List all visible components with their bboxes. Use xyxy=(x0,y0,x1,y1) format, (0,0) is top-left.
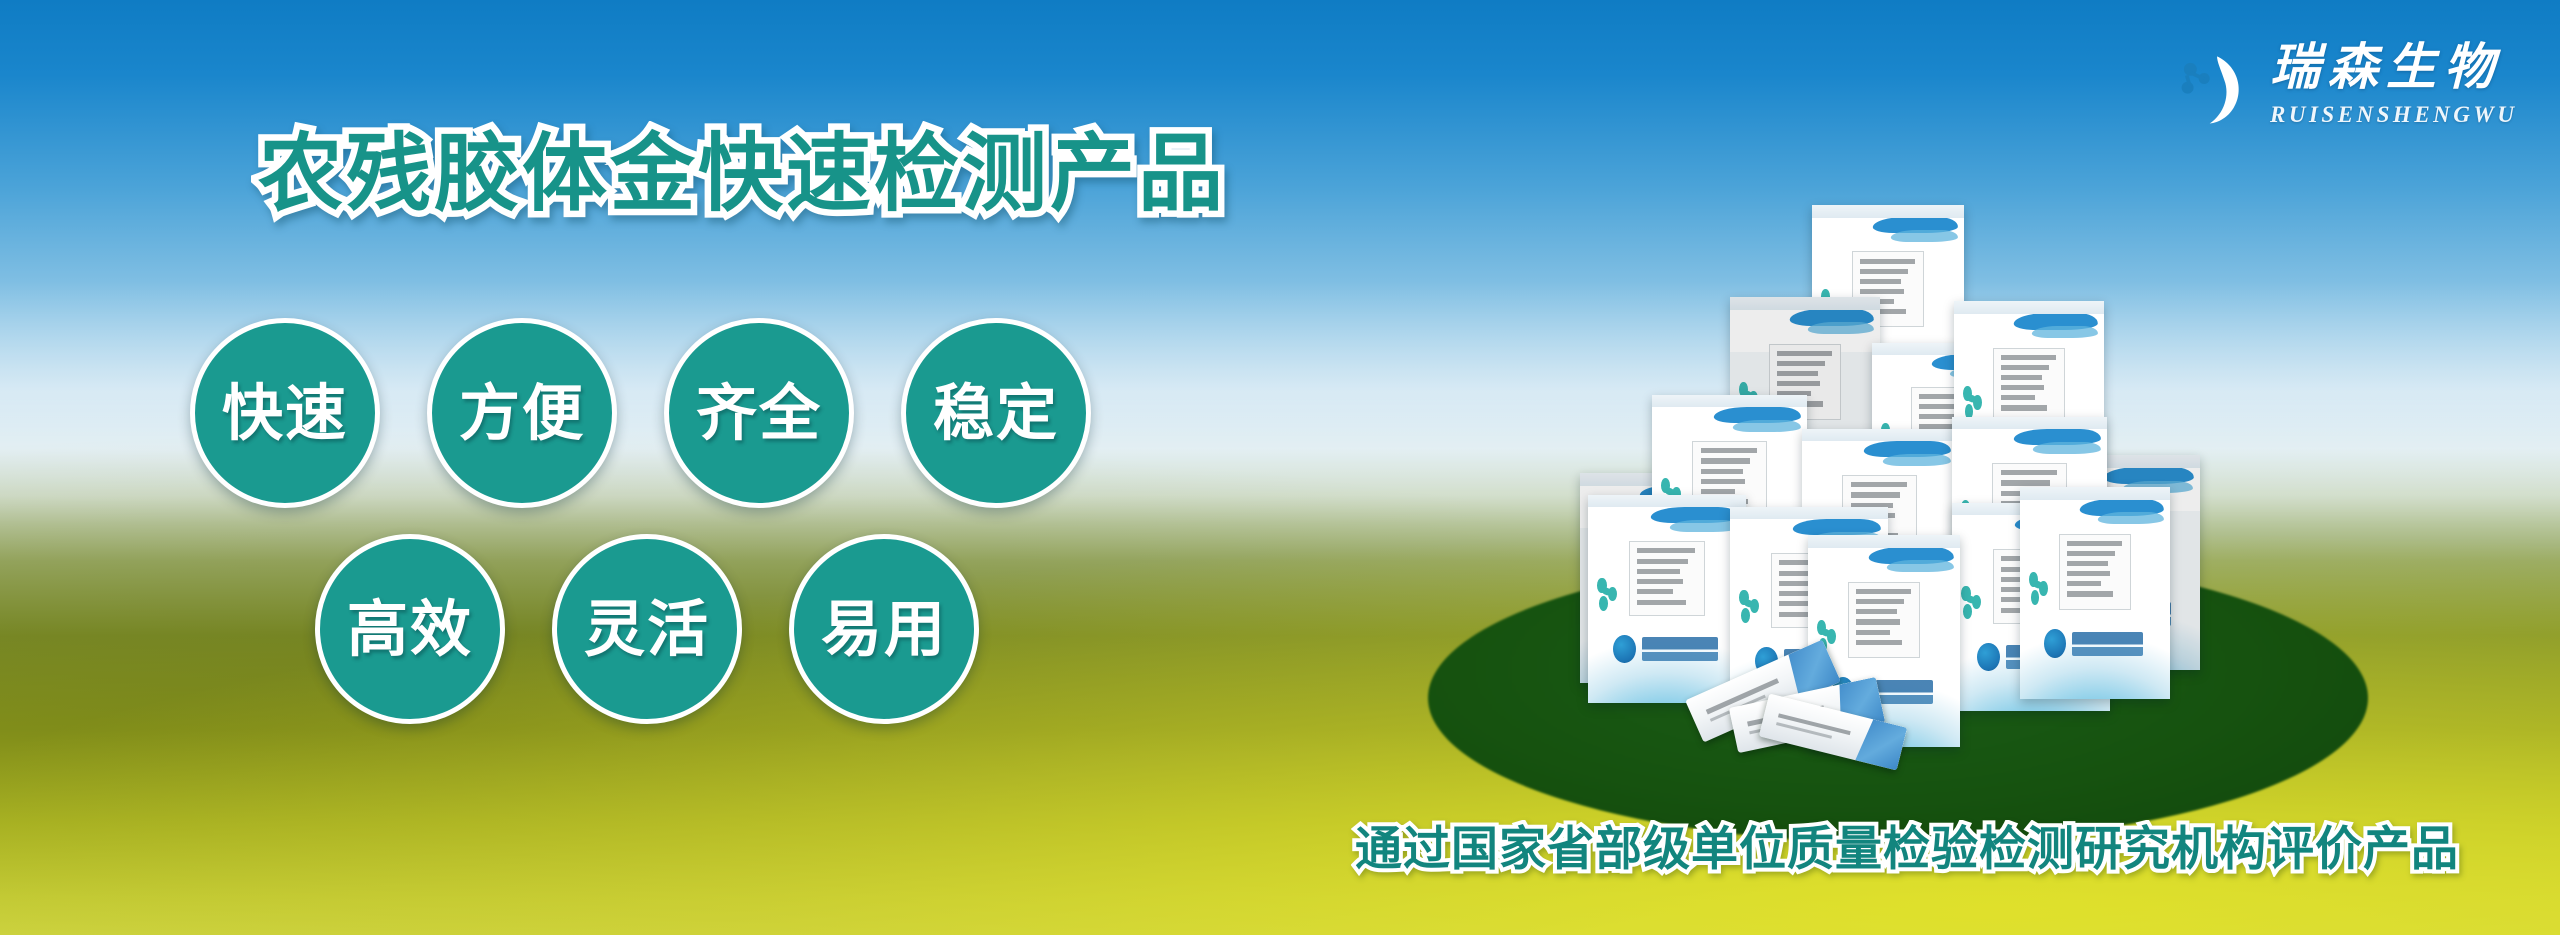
feature-badge-yiyong[interactable]: 易用 xyxy=(789,534,979,724)
feature-badge-label: 稳定 xyxy=(933,383,1059,444)
feature-badge-label: 方便 xyxy=(459,383,585,444)
ruisen-swirl-molecule-logo-icon xyxy=(2160,38,2252,130)
feature-badge-gaoxiao[interactable]: 高效 xyxy=(315,534,505,724)
logo-name-cn: 瑞森生物 xyxy=(2270,42,2517,92)
feature-badge-row-2: 高效 灵活 易用 xyxy=(315,534,1280,724)
feature-badge-label: 高效 xyxy=(347,599,473,660)
logo-name-en: RUISENSHENGWU xyxy=(2270,103,2517,126)
feature-badge-fangbian[interactable]: 方便 xyxy=(427,318,617,508)
logo-wordmark: 瑞森生物 RUISENSHENGWU xyxy=(2270,42,2517,126)
feature-badges: 快速 方便 齐全 稳定 高效 灵活 易用 xyxy=(190,318,1280,724)
certification-caption: 通过国家省部级单位质量检验检测研究机构评价产品 xyxy=(1355,810,2459,879)
feature-badge-kuaisu[interactable]: 快速 xyxy=(190,318,380,508)
product-box xyxy=(2020,487,2170,699)
feature-badge-label: 齐全 xyxy=(696,383,822,444)
page-title: 农残胶体金快速检测产品 xyxy=(258,105,1226,228)
company-logo[interactable]: 瑞森生物 RUISENSHENGWU xyxy=(2160,38,2517,130)
promo-banner: 瑞森生物 RUISENSHENGWU 农残胶体金快速检测产品 快速 方便 齐全 … xyxy=(0,0,2560,935)
feature-badge-label: 易用 xyxy=(821,599,947,660)
feature-badge-wending[interactable]: 稳定 xyxy=(901,318,1091,508)
feature-badge-qiquan[interactable]: 齐全 xyxy=(664,318,854,508)
feature-badge-label: 灵活 xyxy=(584,599,710,660)
feature-badge-linghuo[interactable]: 灵活 xyxy=(552,534,742,724)
feature-badge-row-1: 快速 方便 齐全 稳定 xyxy=(190,318,1280,508)
feature-badge-label: 快速 xyxy=(222,383,348,444)
test-strip-packets xyxy=(1688,648,1938,768)
